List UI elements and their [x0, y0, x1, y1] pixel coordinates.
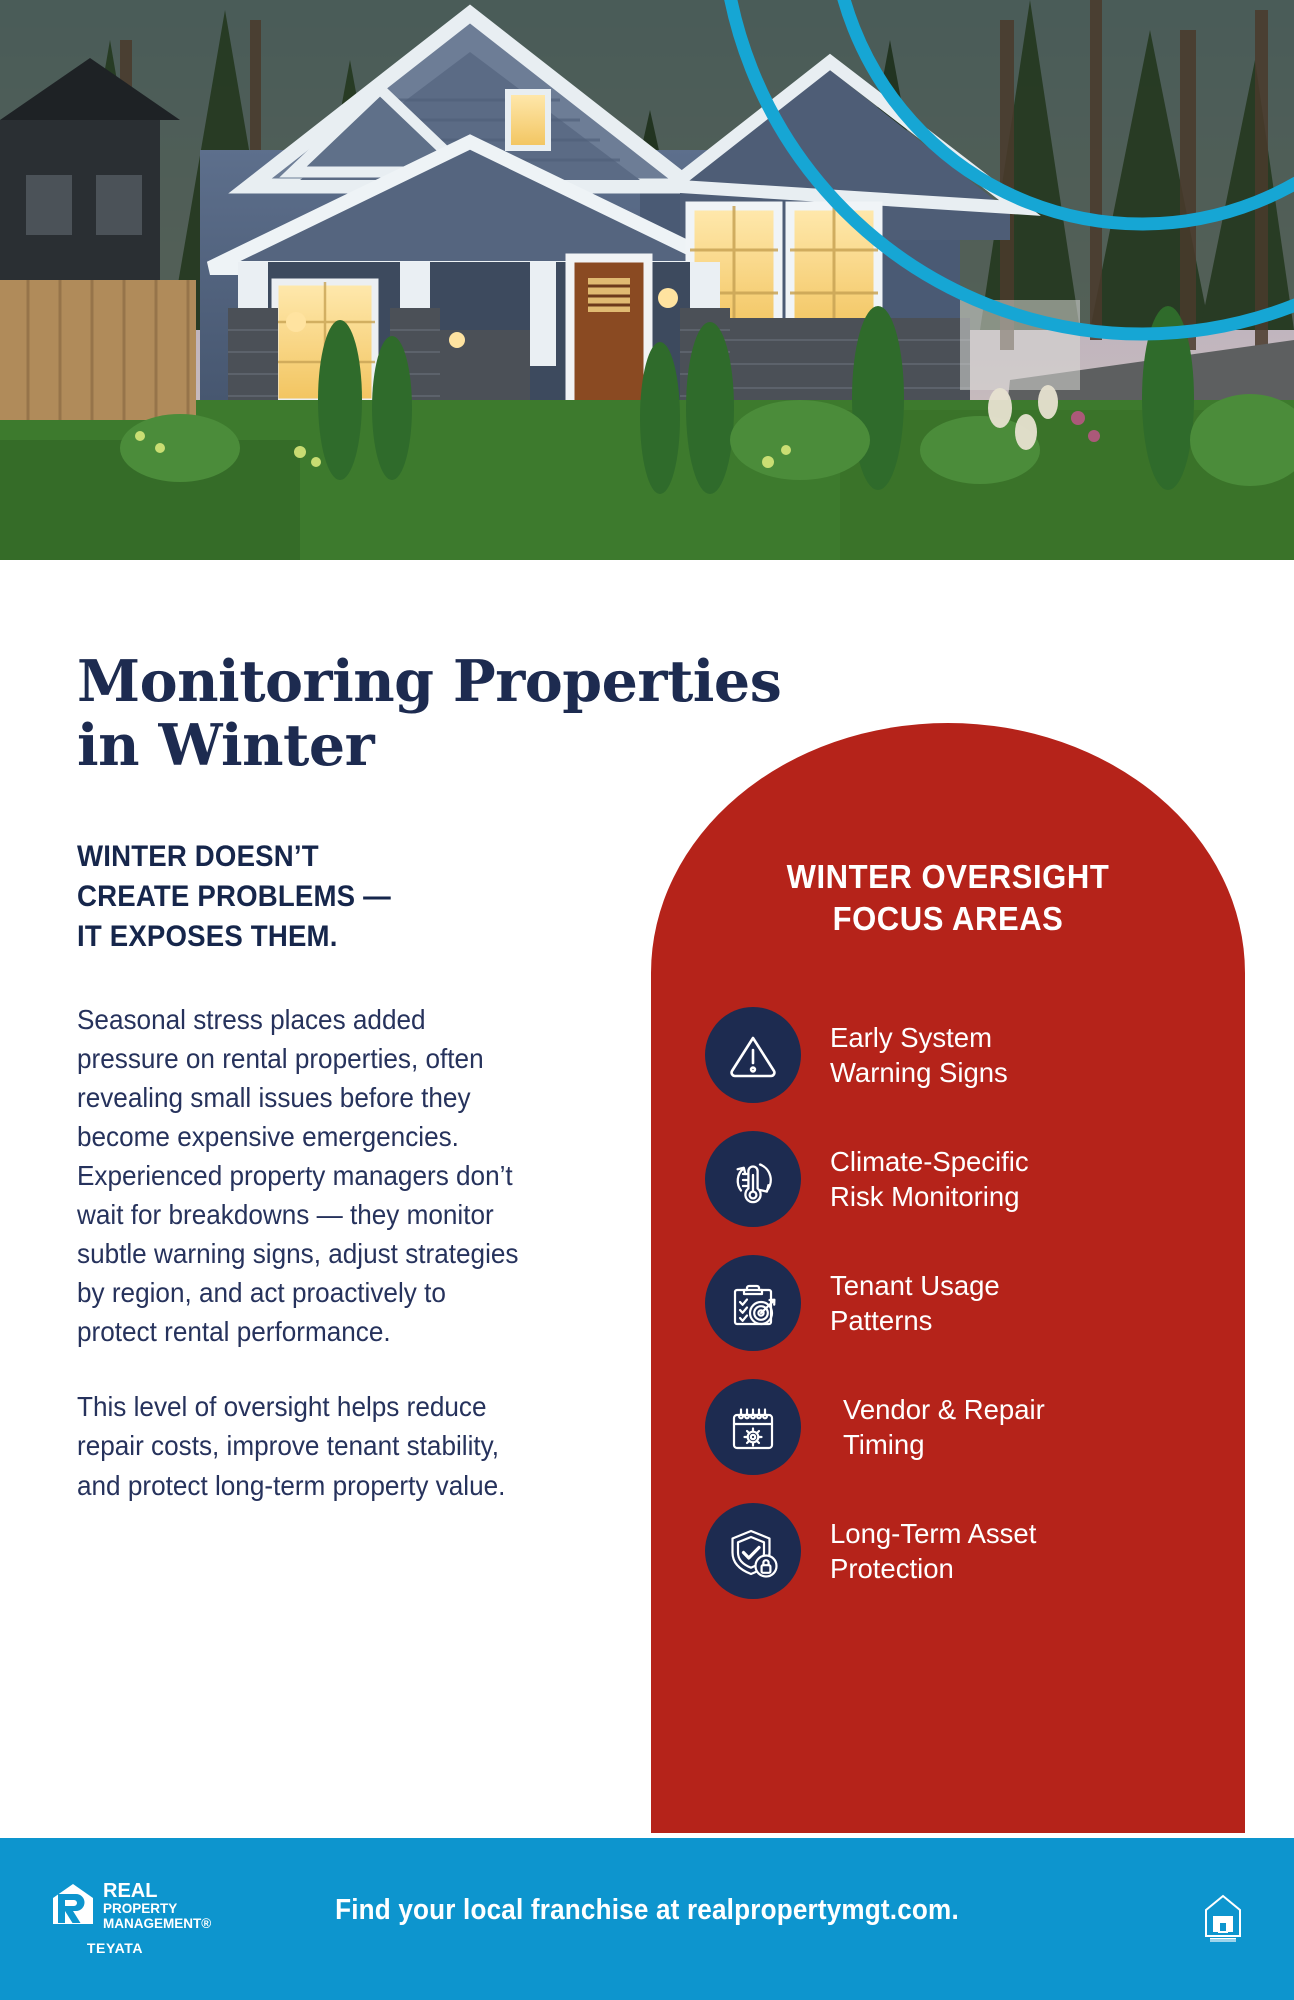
- focus-item-label: Climate-SpecificRisk Monitoring: [830, 1144, 1029, 1214]
- focus-item: Climate-SpecificRisk Monitoring: [651, 1117, 1245, 1241]
- subheading: WINTER DOESN’TCREATE PROBLEMS —IT EXPOSE…: [77, 837, 509, 957]
- infographic-page: Monitoring Propertiesin Winter WINTER DO…: [0, 0, 1294, 2000]
- focus-item: Vendor & RepairTiming: [651, 1365, 1245, 1489]
- footer-bar: REAL PROPERTY MANAGEMENT® TEYATA Find yo…: [0, 1838, 1294, 2000]
- franchise-name: TEYATA: [50, 1940, 180, 1956]
- focus-item: Early SystemWarning Signs: [651, 993, 1245, 1117]
- focus-item: Tenant UsagePatterns: [651, 1241, 1245, 1365]
- focus-item: Long-Term AssetProtection: [651, 1489, 1245, 1613]
- focus-item-label: Early SystemWarning Signs: [830, 1020, 1008, 1090]
- body-paragraph-1: Seasonal stress places added pressure on…: [77, 1000, 524, 1351]
- thermometer-cycle-icon: [705, 1131, 801, 1227]
- body-copy: Seasonal stress places added pressure on…: [77, 1000, 524, 1505]
- focus-areas-panel: WINTER OVERSIGHTFOCUS AREAS Early System…: [651, 723, 1245, 1833]
- focus-item-label: Long-Term AssetProtection: [830, 1516, 1036, 1586]
- body-paragraph-2: This level of oversight helps reduce rep…: [77, 1387, 524, 1504]
- warning-triangle-icon: [705, 1007, 801, 1103]
- equal-housing-opportunity-icon: [1202, 1890, 1244, 1942]
- footer-call-to-action[interactable]: Find your local franchise at realpropert…: [65, 1894, 1230, 1927]
- focus-areas-list: Early SystemWarning Signs: [651, 993, 1245, 1613]
- page-title: Monitoring Propertiesin Winter: [77, 650, 817, 778]
- focus-item-label: Tenant UsagePatterns: [830, 1268, 1000, 1338]
- calendar-gear-icon: [705, 1379, 801, 1475]
- focus-item-label: Vendor & RepairTiming: [843, 1392, 1045, 1462]
- hero-illustration: [0, 0, 1294, 560]
- shield-lock-icon: [705, 1503, 801, 1599]
- clipboard-target-icon: [705, 1255, 801, 1351]
- hero-photo: [0, 0, 1294, 560]
- focus-areas-title: WINTER OVERSIGHTFOCUS AREAS: [669, 856, 1227, 940]
